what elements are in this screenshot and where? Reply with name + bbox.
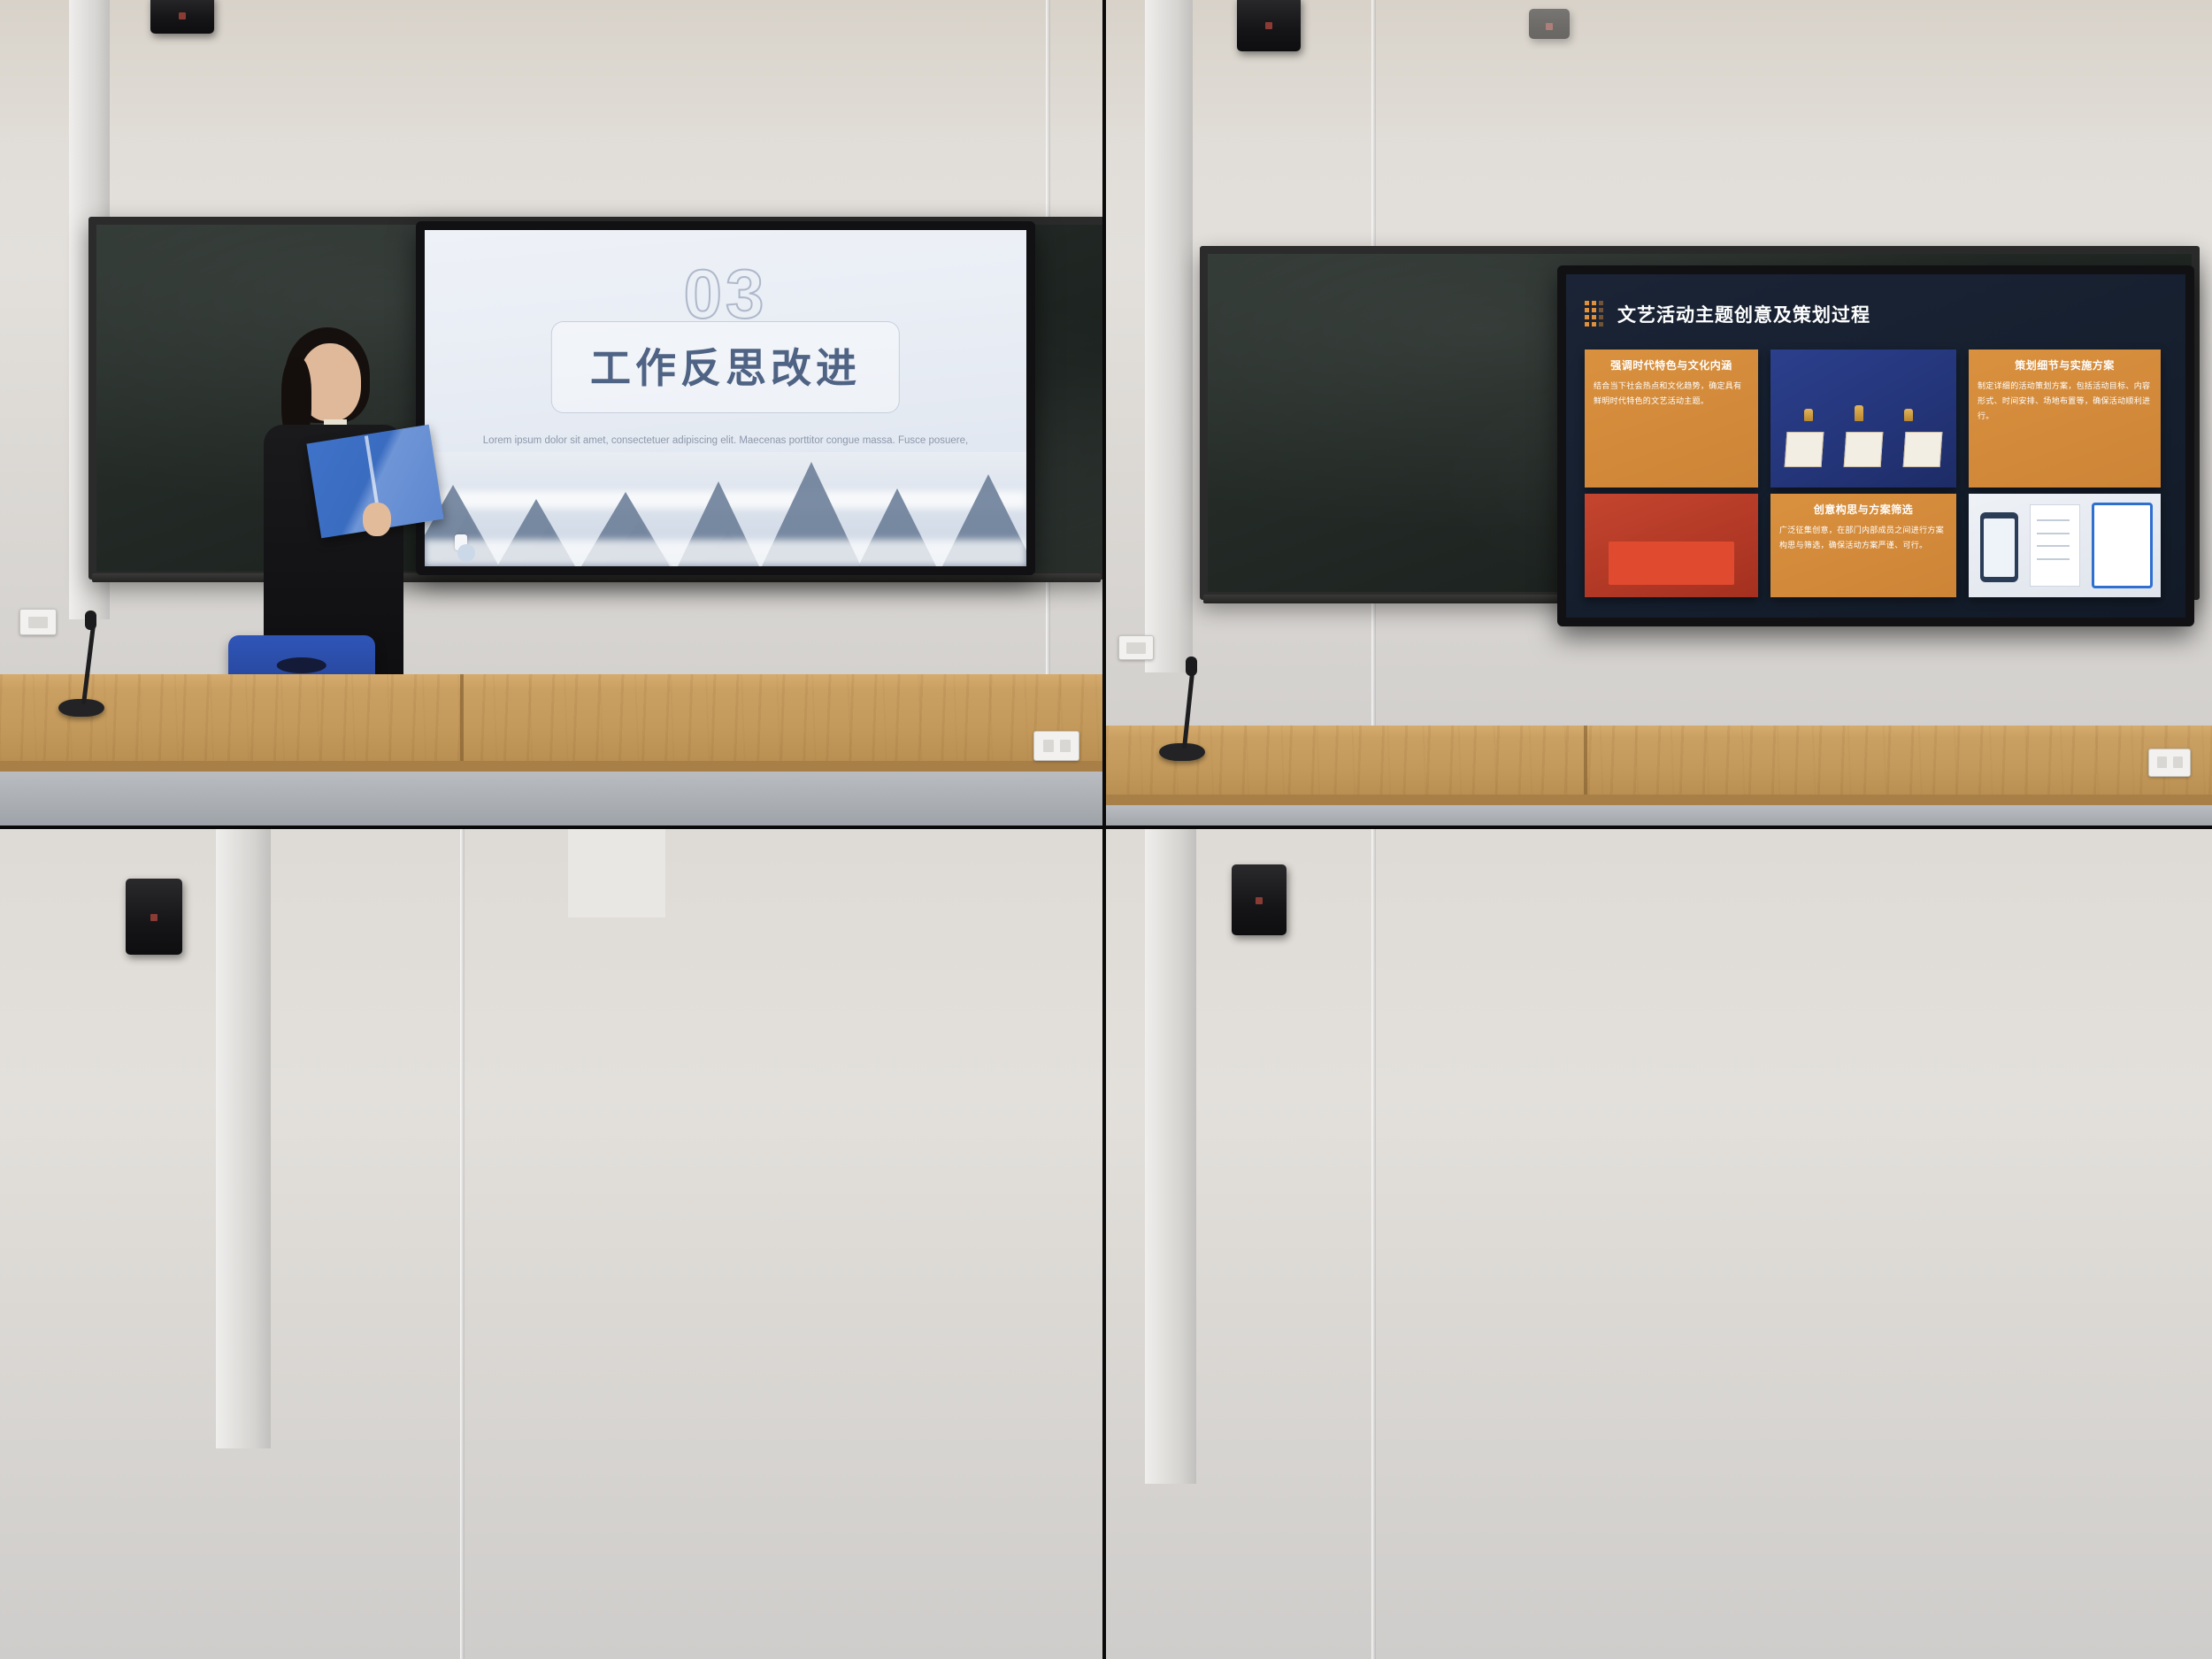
collage-panel-top-left: 03 工作反思改进 Lorem ipsum dolor sit amet, co… <box>0 0 1106 829</box>
collage-panel-top-right: 文艺活动主题创意及策划过程 强调时代特色与文化内涵 结合当下社会热点和文化趋势，… <box>1106 0 2212 829</box>
slide2-photo-trophies <box>1770 349 1956 487</box>
card-2-heading: 创意构思与方案筛选 <box>1779 502 1947 517</box>
presentation-collage: 03 工作反思改进 Lorem ipsum dolor sit amet, co… <box>0 0 2212 1659</box>
desk-grain <box>0 674 1102 761</box>
wall-pillar <box>1145 0 1193 672</box>
mountain-image <box>425 452 1026 566</box>
slide2-photo-checklist <box>1969 494 2161 596</box>
desk-seam <box>460 674 464 761</box>
speaker-icon-right <box>1529 9 1570 39</box>
slide-1: 03 工作反思改进 Lorem ipsum dolor sit amet, co… <box>425 230 1026 566</box>
wall-seam <box>460 829 465 1659</box>
phone-mockup-icon <box>1980 512 2018 582</box>
wall-seam <box>1371 829 1376 1659</box>
slide2-photo-banner <box>1585 494 1758 596</box>
slide-title-card: 工作反思改进 <box>551 321 900 413</box>
card-3-heading: 策划细节与实施方案 <box>1978 357 2152 373</box>
desk-seam <box>1584 726 1587 795</box>
power-socket[interactable] <box>2148 749 2191 777</box>
microphone-head <box>85 611 96 630</box>
wall-switch[interactable] <box>19 609 57 635</box>
card-2-body: 广泛征集创意，在部门内部成员之间进行方案构思与筛选，确保活动方案严谨、可行。 <box>1779 523 1947 552</box>
lecture-desk <box>0 674 1102 761</box>
desk-edge <box>0 761 1102 772</box>
projector-housing <box>568 829 665 918</box>
power-socket[interactable] <box>1033 731 1079 761</box>
desk-edge <box>1106 795 2212 805</box>
card-1-body: 结合当下社会热点和文化趋势，确定具有鲜明时代特色的文艺活动主题。 <box>1594 379 1749 408</box>
slide-2: 文艺活动主题创意及策划过程 强调时代特色与文化内涵 结合当下社会热点和文化趋势，… <box>1566 274 2185 618</box>
desk-grain <box>1106 726 2212 795</box>
classroom-wall <box>1106 829 2212 1659</box>
slide2-card-3: 策划细节与实施方案 制定详细的活动策划方案，包括活动目标、内容形式、时间安排、场… <box>1969 349 2161 487</box>
collage-panel-bottom-left: 主要工作 安徽师范大学法学院 School of Law,Anhui Norma… <box>0 829 1106 1659</box>
slide2-card-2: 创意构思与方案筛选 广泛征集创意，在部门内部成员之间进行方案构思与筛选，确保活动… <box>1770 494 1956 596</box>
card-3-body: 制定详细的活动策划方案，包括活动目标、内容形式、时间安排、场地布置等，确保活动顺… <box>1978 379 2152 423</box>
slide-title: 工作反思改进 <box>552 336 899 395</box>
microphone-head <box>1186 657 1197 676</box>
list-mockup-icon <box>2030 504 2079 587</box>
checklist-card-icon <box>2092 503 2153 589</box>
presenter-hand <box>363 503 391 536</box>
slide2-header: 文艺活动主题创意及策划过程 <box>1566 291 2185 335</box>
dot-grid-icon <box>1585 301 1603 326</box>
speaker-icon <box>126 879 182 955</box>
desk-front-panel <box>0 772 1102 829</box>
collage-panel-bottom-right: 个人发展 <box>1106 829 2212 1659</box>
lecture-desk <box>1106 726 2212 795</box>
display-screen[interactable]: 文艺活动主题创意及策划过程 强调时代特色与文化内涵 结合当下社会热点和文化趋势，… <box>1557 265 2194 626</box>
wall-pillar <box>1145 829 1196 1484</box>
speaker-icon <box>1237 0 1301 51</box>
desk-front-panel <box>1106 805 2212 829</box>
speaker-icon <box>150 0 214 34</box>
card-1-heading: 强调时代特色与文化内涵 <box>1594 357 1749 373</box>
slide2-card-1: 强调时代特色与文化内涵 结合当下社会热点和文化趋势，确定具有鲜明时代特色的文艺活… <box>1585 349 1758 487</box>
wall-switch[interactable] <box>1118 635 1154 660</box>
slide2-title: 文艺活动主题创意及策划过程 <box>1617 301 1870 327</box>
wall-pillar <box>216 829 271 1448</box>
display-screen[interactable]: 03 工作反思改进 Lorem ipsum dolor sit amet, co… <box>416 221 1035 575</box>
speaker-icon <box>1232 864 1286 935</box>
